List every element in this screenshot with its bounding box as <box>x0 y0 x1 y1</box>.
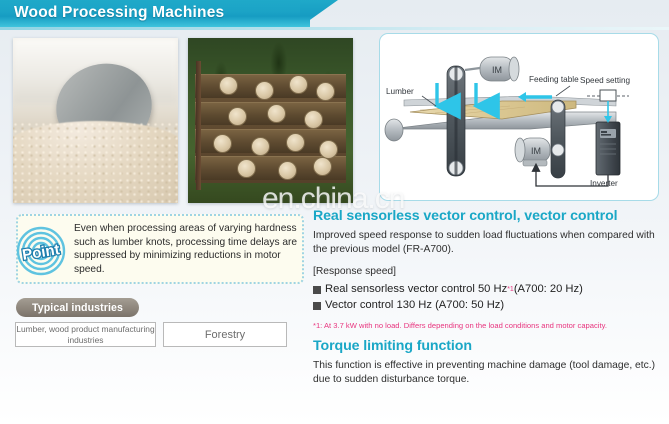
industry-item-lumber: Lumber, wood product manufacturing indus… <box>15 322 156 347</box>
feature-2-heading: Torque limiting function <box>313 338 661 354</box>
page-header: Wood Processing Machines <box>0 0 669 31</box>
diagram-label-lumber: Lumber <box>386 87 414 96</box>
feature-1-heading: Real sensorless vector control, vector c… <box>313 208 661 224</box>
point-callout-box: Point Even when processing areas of vary… <box>16 214 304 284</box>
svg-text:IM: IM <box>492 65 502 75</box>
feature-1-footnote: *1: At 3.7 kW with no load. Differs depe… <box>313 320 661 331</box>
sawdust-pile <box>13 121 178 204</box>
feature-torque-limiting: Torque limiting function This function i… <box>313 338 661 387</box>
feeding-table-rollers <box>551 100 565 178</box>
bullet-square-icon <box>313 286 321 294</box>
bullet-0-text: Real sensorless vector control 50 Hz <box>325 282 507 297</box>
page-title: Wood Processing Machines <box>14 4 224 22</box>
stack-post <box>196 61 201 190</box>
bullet-square-icon <box>313 302 321 310</box>
bullet-0-suffix: (A700: 20 Hz) <box>514 282 583 297</box>
photo-circular-saw-blade <box>13 38 178 203</box>
bullet-0-superscript: *1 <box>507 282 514 297</box>
diagram-label-feeding-table: Feeding table <box>529 75 579 84</box>
process-diagram-panel: IM IM <box>379 33 659 201</box>
feature-2-body: This function is effective in preventing… <box>313 359 661 387</box>
inverter-unit <box>596 122 620 175</box>
header-underline <box>0 27 669 30</box>
bullet-1-text: Vector control 130 Hz (A700: 50 Hz) <box>325 298 504 313</box>
feature-1-sublabel: [Response speed] <box>313 266 661 277</box>
feature-1-bullet-0: Real sensorless vector control 50 Hz*1 (… <box>313 282 661 297</box>
motor-top: IM <box>465 57 519 81</box>
point-badge-icon: Point <box>14 226 68 276</box>
motor-bottom: IM <box>515 138 550 166</box>
feature-1-body: Improved speed response to sudden load f… <box>313 229 661 257</box>
log-stack <box>195 74 347 183</box>
diagram-label-inverter: Inverter <box>590 179 618 188</box>
diagram-label-speed-setting: Speed setting <box>580 76 631 85</box>
svg-text:IM: IM <box>531 146 541 156</box>
industry-item-forestry: Forestry <box>163 322 287 347</box>
wood-feeding-system-diagram: IM IM <box>380 34 657 199</box>
point-description: Even when processing areas of varying ha… <box>74 222 298 276</box>
feature-1-bullet-1: Vector control 130 Hz (A700: 50 Hz) <box>313 298 661 313</box>
typical-industries-heading: Typical industries <box>16 298 139 317</box>
band-saw-column <box>447 66 465 176</box>
svg-text:Point: Point <box>21 241 61 264</box>
feature-sensorless-vector-control: Real sensorless vector control, vector c… <box>313 208 661 331</box>
photo-stacked-logs <box>188 38 353 203</box>
